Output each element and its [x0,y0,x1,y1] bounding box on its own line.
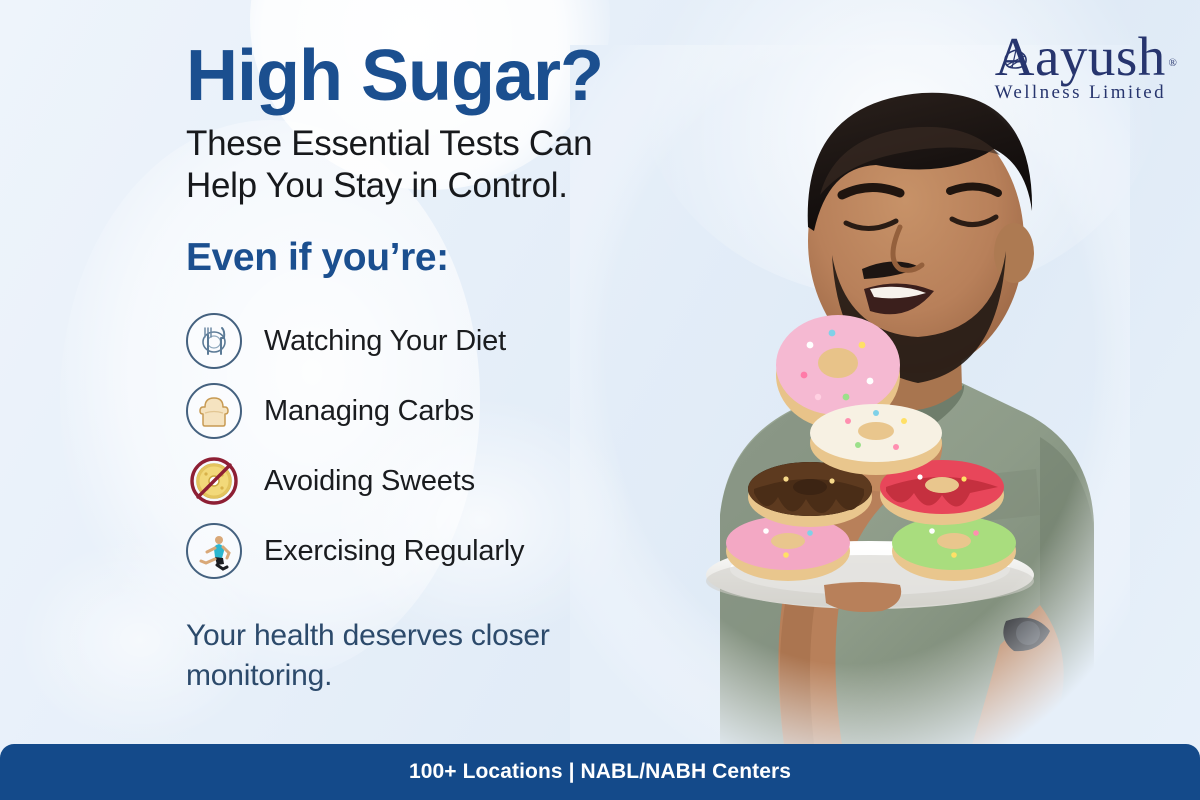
list-item-label: Watching Your Diet [264,325,506,358]
leaf-icon [1003,48,1029,70]
eyebrow-heading: Even if you’re: [186,236,706,280]
subhead: These Essential Tests Can Help You Stay … [186,123,706,206]
list-item-label: Managing Carbs [264,395,474,428]
closing-line-1: Your health deserves closer [186,616,706,656]
benefit-list: Watching Your Diet Managing Carbs [186,306,706,586]
closing-statement: Your health deserves closer monitoring. [186,616,706,695]
plate-cutlery-icon [186,313,242,369]
list-item: Avoiding Sweets [186,446,706,516]
poster-canvas: Aayush ® Wellness Limited High Sugar? Th… [0,0,1200,800]
brand-logo: Aayush ® Wellness Limited [995,26,1166,104]
list-item-label: Avoiding Sweets [264,465,475,498]
list-item: Exercising Regularly [186,516,706,586]
closing-line-2: monitoring. [186,656,706,696]
list-item: Watching Your Diet [186,306,706,376]
list-item: Managing Carbs [186,376,706,446]
registered-trademark-icon: ® [1168,32,1176,94]
running-person-icon [186,523,242,579]
no-sweets-icon [186,453,242,509]
list-item-label: Exercising Regularly [264,535,524,568]
footer-bar: 100+ Locations | NABL/NABH Centers [0,744,1200,800]
headline: High Sugar? [186,40,706,113]
subhead-line-2: Help You Stay in Control. [186,165,706,206]
bread-slice-icon [186,383,242,439]
footer-text: 100+ Locations | NABL/NABH Centers [409,760,791,784]
subhead-line-1: These Essential Tests Can [186,123,706,164]
copy-block: High Sugar? These Essential Tests Can He… [186,40,706,695]
logo-wordmark: Aayush ® [995,26,1166,88]
